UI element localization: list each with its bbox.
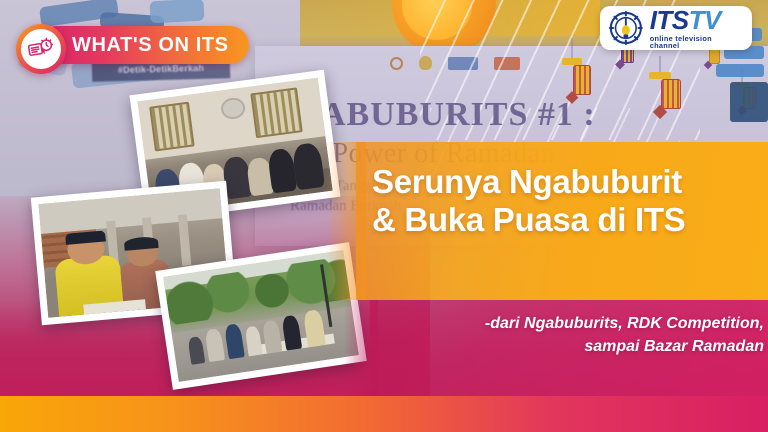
subtitle-line-2: sampai Bazar Ramadan [372,335,764,358]
blue-block-decor [716,64,764,77]
video-thumbnail-stage: NGABUBURITS #1 : The Power of Ramadan Be… [0,0,768,432]
megaphone-announcement-icon [21,29,61,69]
subtitle: -dari Ngabuburits, RDK Competition, samp… [372,312,764,358]
logo-wordmark: ITS TV [650,7,743,33]
its-tv-logo: ITS TV online television channel [600,6,752,50]
show-label-badge: WHAT'S ON ITS [16,24,249,66]
logo-text-block: ITS TV online television channel [650,7,743,50]
bottom-gradient-bar [0,396,768,432]
logo-its-text: ITS [650,7,689,33]
blue-ribbon-shape [149,0,204,23]
logo-tagline: online television channel [650,35,743,50]
show-badge-ring [16,24,66,74]
headline-line-1: Serunya Ngabuburit [372,163,764,201]
show-label-text: WHAT'S ON ITS [72,34,229,57]
headline-line-2: & Buka Puasa di ITS [372,201,764,239]
show-label-pill: WHAT'S ON ITS [38,26,249,64]
its-gear-torch-logo-icon [609,11,643,45]
page-title: Serunya Ngabuburit & Buka Puasa di ITS [372,163,764,240]
subtitle-line-1: -dari Ngabuburits, RDK Competition, [372,312,764,335]
circle-emblem-icon [390,57,403,70]
blue-block-decor [730,82,768,122]
megaphone-announcement-icon-svg [28,37,54,61]
logo-tv-text: TV [689,7,721,33]
